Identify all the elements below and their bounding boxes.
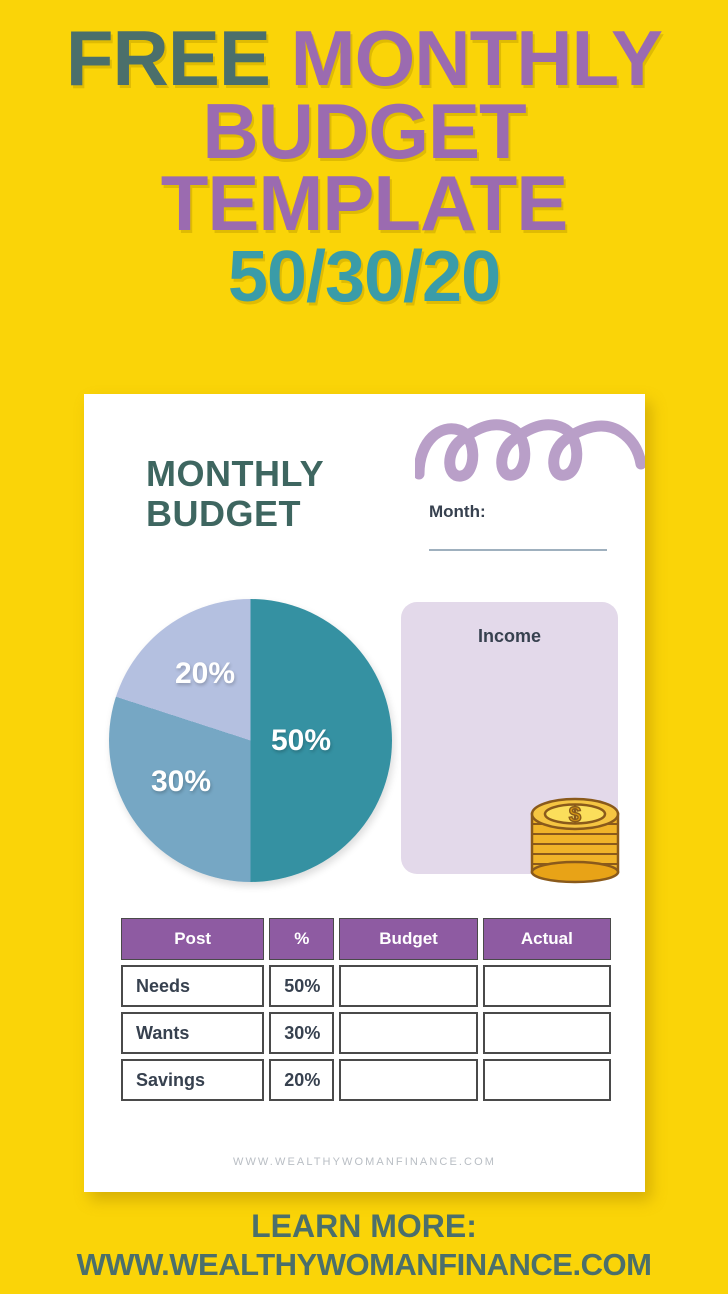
banner-learn-more: LEARN MORE: [0, 1208, 728, 1245]
cell-post-wants: Wants [121, 1012, 264, 1054]
month-label: Month: [429, 502, 486, 522]
coin-stack-icon: $ [526, 784, 624, 884]
cell-post-needs: Needs [121, 965, 264, 1007]
headline-block: FREE MONTHLY BUDGET TEMPLATE 50/30/20 [0, 22, 728, 311]
table-row: Wants 30% [121, 1012, 611, 1054]
income-label: Income [401, 626, 618, 647]
budget-table: Post % Budget Actual Needs 50% Wants 30% [116, 913, 616, 1106]
cell-pct-savings: 20% [269, 1059, 334, 1101]
squiggle-icon [415, 412, 645, 482]
cell-post-savings: Savings [121, 1059, 264, 1101]
card-footer-url: WWW.WEALTHYWOMANFINANCE.COM [84, 1156, 645, 1168]
headline-line-2: BUDGET [0, 95, 728, 168]
poster-root: FREE MONTHLY BUDGET TEMPLATE 50/30/20 MO… [0, 0, 728, 1294]
table-row: Needs 50% [121, 965, 611, 1007]
budget-template-card: MONTHLY BUDGET Month: 50% 30% 20% Income [84, 394, 645, 1192]
column-header-actual: Actual [483, 918, 611, 960]
headline-line-3: TEMPLATE [0, 167, 728, 240]
cell-actual-savings[interactable] [483, 1059, 611, 1101]
pie-label-savings: 20% [175, 657, 235, 691]
table-row: Savings 20% [121, 1059, 611, 1101]
column-header-post: Post [121, 918, 264, 960]
bottom-banner: LEARN MORE: WWW.WEALTHYWOMANFINANCE.COM [0, 1208, 728, 1283]
table-header-row: Post % Budget Actual [121, 918, 611, 960]
card-title: MONTHLY BUDGET [146, 454, 324, 535]
month-input-line[interactable] [429, 549, 607, 551]
pie-label-needs: 50% [271, 724, 331, 758]
cell-actual-needs[interactable] [483, 965, 611, 1007]
column-header-budget: Budget [339, 918, 477, 960]
cell-budget-wants[interactable] [339, 1012, 477, 1054]
headline-line-4: 50/30/20 [0, 244, 728, 311]
cell-pct-wants: 30% [269, 1012, 334, 1054]
budget-pie-chart: 50% 30% 20% [109, 599, 392, 882]
cell-budget-needs[interactable] [339, 965, 477, 1007]
column-header-percent: % [269, 918, 334, 960]
cell-budget-savings[interactable] [339, 1059, 477, 1101]
cell-actual-wants[interactable] [483, 1012, 611, 1054]
pie-slices [109, 599, 392, 882]
pie-label-wants: 30% [151, 765, 211, 799]
card-title-line-2: BUDGET [146, 494, 324, 534]
headline-line-1: FREE MONTHLY [0, 22, 728, 95]
banner-website-url[interactable]: WWW.WEALTHYWOMANFINANCE.COM [0, 1247, 728, 1283]
cell-pct-needs: 50% [269, 965, 334, 1007]
svg-text:$: $ [569, 802, 581, 827]
card-title-line-1: MONTHLY [146, 454, 324, 494]
